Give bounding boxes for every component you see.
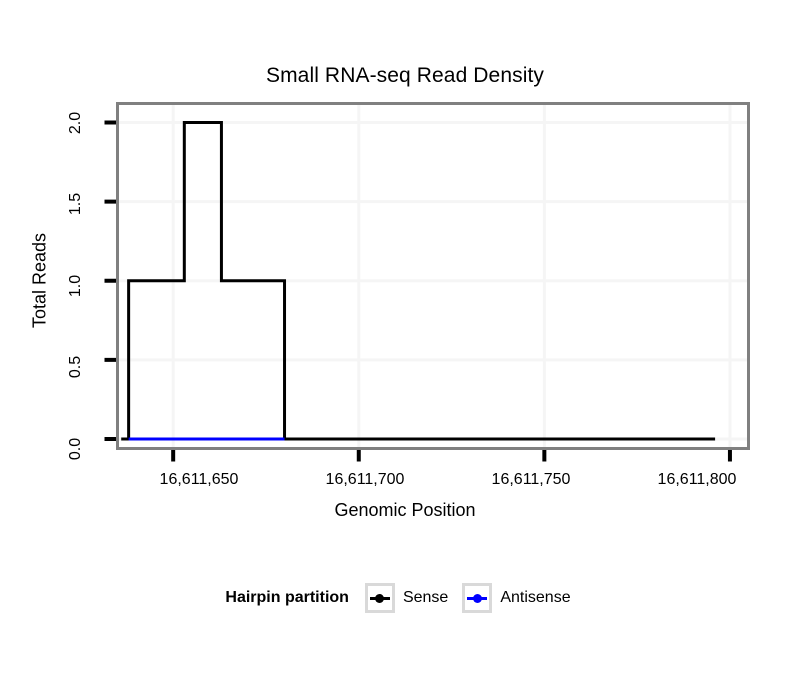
legend-label-sense: Sense: [403, 589, 448, 607]
legend-key-point: [375, 594, 384, 603]
legend-title: Hairpin partition: [225, 589, 349, 607]
legend-item-antisense[interactable]: Antisense: [462, 583, 570, 613]
legend-key-sense: [365, 583, 395, 613]
legend-key-point: [473, 594, 482, 603]
legend: Hairpin partition Sense Antisense: [0, 583, 810, 613]
chart-root: Small RNA-seq Read Density Total Reads G…: [0, 0, 810, 690]
legend-key-antisense: [462, 583, 492, 613]
legend-item-sense[interactable]: Sense: [365, 583, 448, 613]
legend-label-antisense: Antisense: [500, 589, 570, 607]
panel-background: [118, 104, 749, 449]
